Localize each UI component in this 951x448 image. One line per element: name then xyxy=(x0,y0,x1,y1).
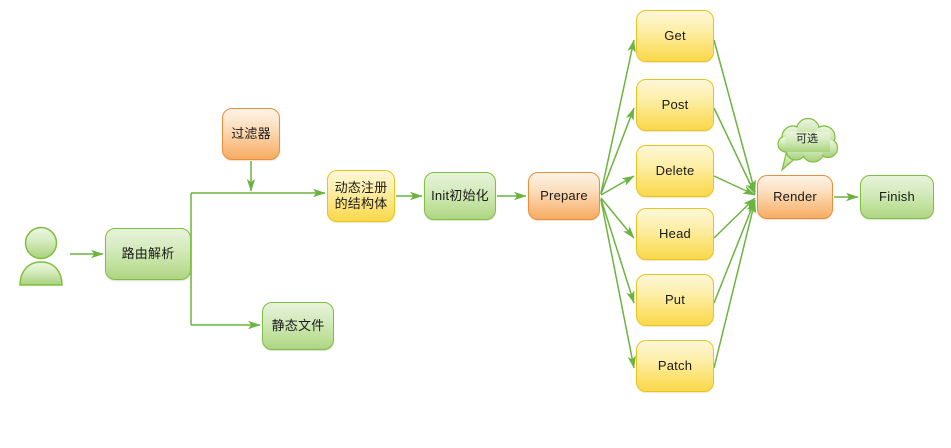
node-label: Finish xyxy=(879,189,915,205)
edge-prepare-head xyxy=(601,198,634,238)
edge-put-render xyxy=(714,200,755,303)
node-label: Init初始化 xyxy=(431,188,489,204)
node-label: 过滤器 xyxy=(231,126,271,142)
edge-head-render xyxy=(714,198,755,238)
node-route-parse[interactable]: 路由解析 xyxy=(105,228,191,280)
node-label: Prepare xyxy=(540,188,588,204)
edge-prepare-get xyxy=(601,40,634,193)
node-method-post[interactable]: Post xyxy=(636,79,714,131)
flowchart-canvas: 路由解析 过滤器 静态文件 动态注册 的结构体 Init初始化 Prepare … xyxy=(0,0,951,448)
edge-get-render xyxy=(714,40,755,192)
node-render[interactable]: Render xyxy=(757,175,833,219)
node-method-get[interactable]: Get xyxy=(636,10,714,62)
node-label: Put xyxy=(665,292,685,308)
edge-prepare-post xyxy=(601,108,634,194)
node-method-put[interactable]: Put xyxy=(636,274,714,326)
node-dynamic-register-struct[interactable]: 动态注册 的结构体 xyxy=(327,170,395,222)
node-label: 静态文件 xyxy=(272,318,325,334)
callout-optional-label: 可选 xyxy=(777,130,837,146)
node-method-delete[interactable]: Delete xyxy=(636,145,714,197)
node-init[interactable]: Init初始化 xyxy=(424,172,496,220)
edge-post-render xyxy=(714,108,755,194)
edge-delete-render xyxy=(714,176,755,195)
node-label: Patch xyxy=(658,358,692,374)
node-label: 路由解析 xyxy=(122,246,175,262)
node-label: 动态注册 的结构体 xyxy=(335,180,388,213)
node-label: Delete xyxy=(656,163,695,179)
user-icon xyxy=(12,225,70,287)
edge-prepare-put xyxy=(601,199,634,303)
node-method-head[interactable]: Head xyxy=(636,208,714,260)
node-label: Head xyxy=(659,226,691,242)
edge-patch-render xyxy=(714,201,755,368)
edge-layer xyxy=(0,0,951,448)
edge-prepare-delete xyxy=(601,176,634,195)
edge-prepare-patch xyxy=(601,200,634,368)
node-label: Render xyxy=(773,189,817,205)
node-filter[interactable]: 过滤器 xyxy=(222,108,280,160)
node-label: Get xyxy=(664,28,686,44)
actor-user xyxy=(12,225,70,292)
node-static-file[interactable]: 静态文件 xyxy=(262,302,334,350)
node-method-patch[interactable]: Patch xyxy=(636,340,714,392)
node-finish[interactable]: Finish xyxy=(860,175,934,219)
node-label: Post xyxy=(662,97,689,113)
node-prepare[interactable]: Prepare xyxy=(528,172,600,220)
